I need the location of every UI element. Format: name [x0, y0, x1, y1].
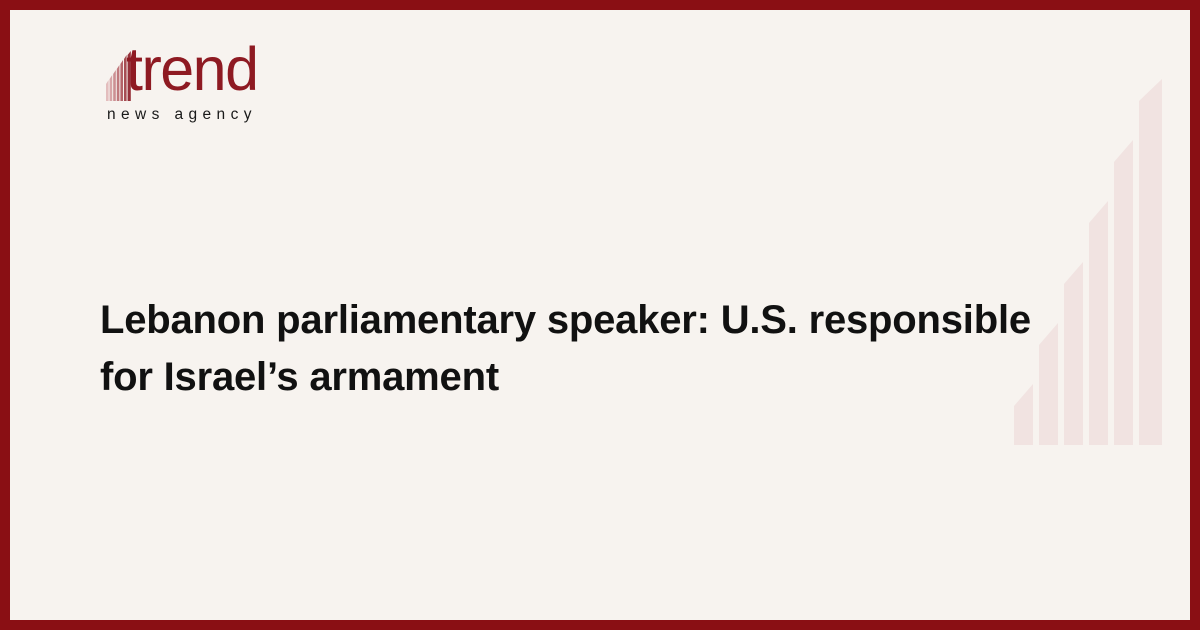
logo-wordmark-text: trend: [126, 39, 258, 100]
brand-logo[interactable]: trend news agency: [95, 45, 395, 140]
article-headline: Lebanon parliamentary speaker: U.S. resp…: [100, 292, 1050, 406]
logo-wordmark-row: trend: [95, 45, 395, 107]
logo-bar: [120, 60, 123, 101]
watermark-bar: [1089, 201, 1108, 445]
watermark-bar: [1139, 79, 1162, 445]
card-content-area: trend news agency Lebanon parliamentary …: [10, 10, 1190, 620]
logo-bar: [113, 70, 116, 101]
logo-bar: [106, 80, 109, 101]
watermark-bar: [1064, 262, 1083, 445]
logo-bar: [110, 75, 113, 101]
logo-bar: [117, 65, 120, 101]
logo-tagline-text: news agency: [107, 107, 257, 123]
social-share-card: trend news agency Lebanon parliamentary …: [0, 0, 1200, 630]
watermark-bar: [1114, 140, 1133, 445]
